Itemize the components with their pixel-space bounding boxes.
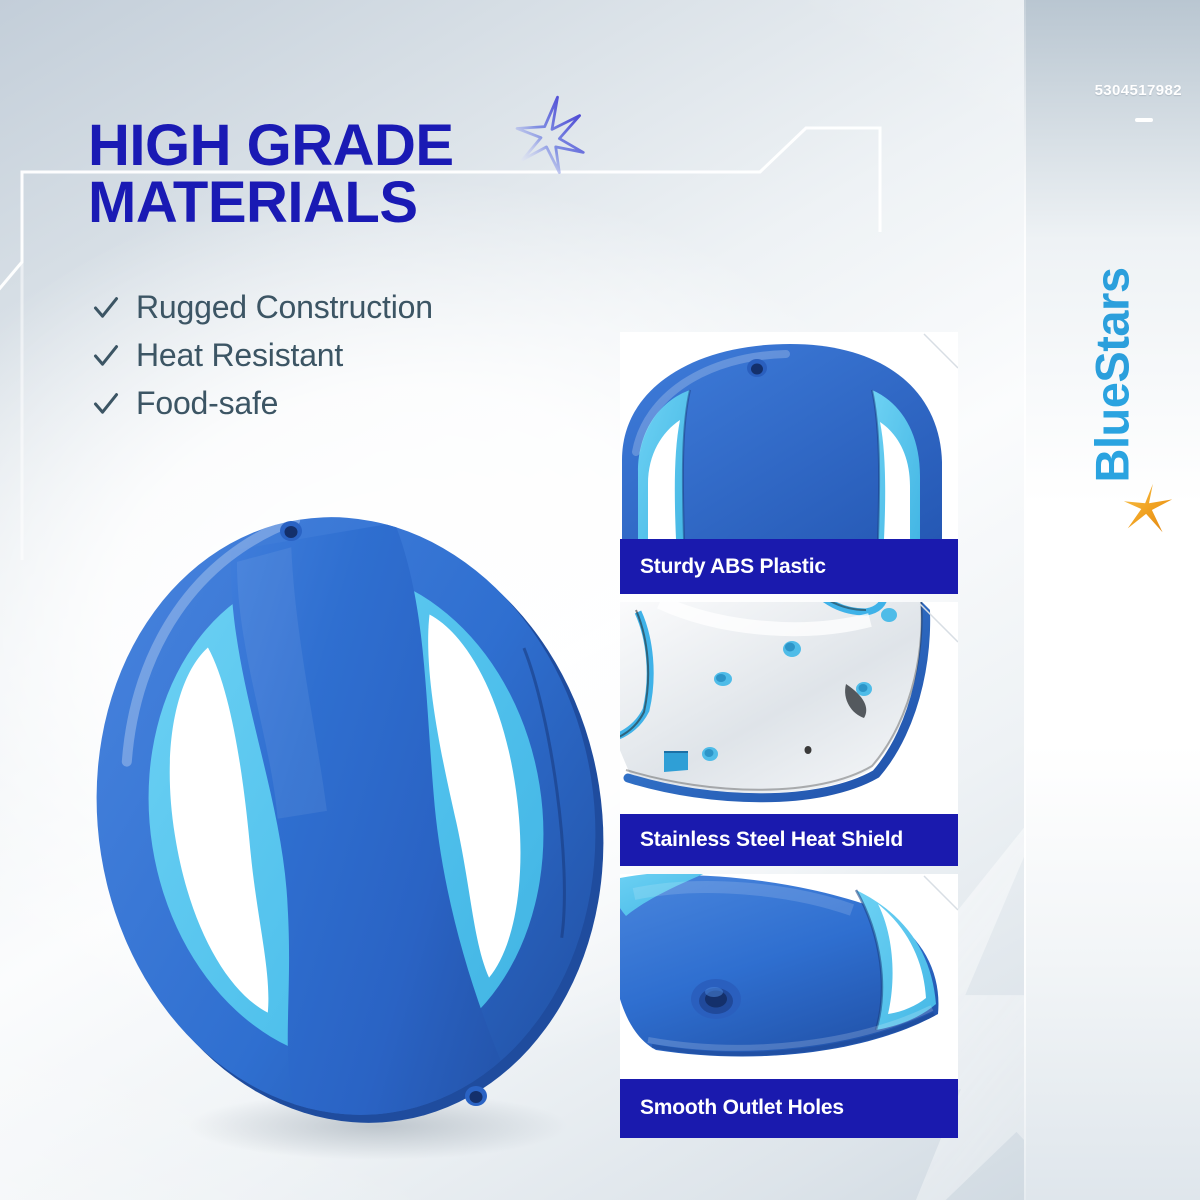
brand-rail: 5304517982 BlueStars bbox=[1024, 0, 1200, 1200]
dryer-drum-baffle-product-photo bbox=[78, 478, 618, 1178]
list-item: Rugged Construction bbox=[92, 290, 612, 325]
brand-name-part-1: Blue bbox=[1086, 383, 1139, 483]
abs-plastic-closeup-photo bbox=[620, 332, 958, 539]
feature-list: Rugged Construction Heat Resistant Food-… bbox=[92, 290, 612, 435]
detail-card-list: Sturdy ABS Plastic bbox=[620, 332, 958, 1146]
check-icon bbox=[92, 342, 120, 370]
feature-label: Food-safe bbox=[136, 386, 278, 421]
headline-line-2: MATERIALS bbox=[88, 175, 608, 232]
smooth-outlet-holes-photo bbox=[620, 874, 958, 1079]
rail-divider bbox=[1024, 0, 1026, 1200]
stainless-steel-heat-shield-photo bbox=[620, 602, 958, 814]
detail-card-label: Smooth Outlet Holes bbox=[620, 1079, 958, 1138]
outline-star-icon bbox=[506, 88, 598, 180]
feature-label: Heat Resistant bbox=[136, 338, 343, 373]
brand-name-part-2: Stars bbox=[1086, 268, 1139, 383]
check-icon bbox=[92, 294, 120, 322]
sku-dash bbox=[1135, 118, 1153, 122]
four-point-star-icon bbox=[1120, 480, 1178, 538]
detail-card: Stainless Steel Heat Shield bbox=[620, 602, 958, 866]
detail-card: Smooth Outlet Holes bbox=[620, 874, 958, 1138]
headline-line-1: HIGH GRADE bbox=[88, 113, 454, 178]
feature-label: Rugged Construction bbox=[136, 290, 433, 325]
detail-card: Sturdy ABS Plastic bbox=[620, 332, 958, 594]
detail-card-label: Sturdy ABS Plastic bbox=[620, 539, 958, 594]
product-marketing-image: HIGH GRADE MATERIALS Rugged Construction… bbox=[0, 0, 1200, 1200]
list-item: Food-safe bbox=[92, 386, 612, 421]
list-item: Heat Resistant bbox=[92, 338, 612, 373]
detail-card-label: Stainless Steel Heat Shield bbox=[620, 814, 958, 866]
sku-number: 5304517982 bbox=[1095, 82, 1182, 99]
check-icon bbox=[92, 390, 120, 418]
